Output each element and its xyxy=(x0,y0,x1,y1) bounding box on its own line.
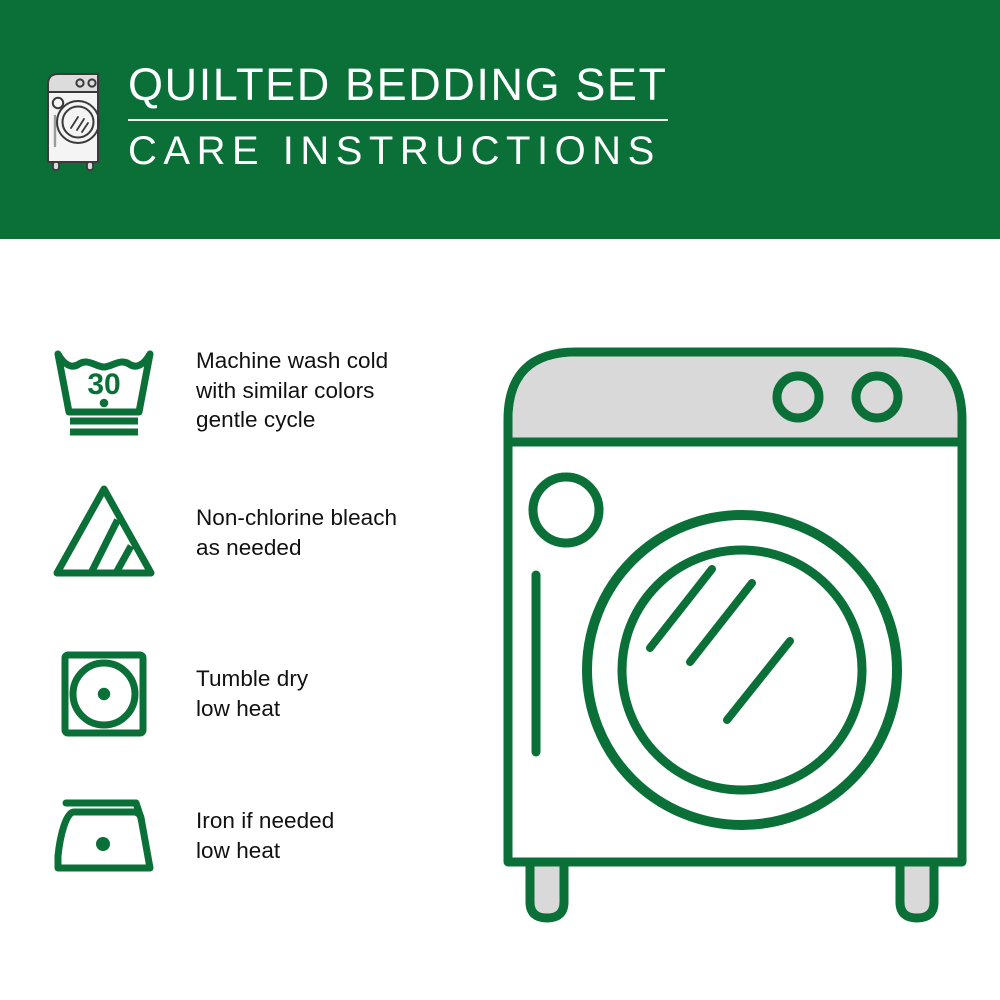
wash-temperature-label: 30 xyxy=(87,368,120,401)
header-band: QUILTED BEDDING SET CARE INSTRUCTIONS xyxy=(0,0,1000,239)
non-chlorine-bleach-triangle-icon xyxy=(44,477,164,585)
washing-machine-icon xyxy=(44,66,106,174)
control-panel xyxy=(513,357,958,443)
care-instruction-list: 30 Machine wash cold with similar colors… xyxy=(0,239,470,1000)
wash-tub-30-gentle-icon: 30 xyxy=(44,334,164,442)
care-instruction-item: Iron if needed low heat xyxy=(44,784,334,892)
leg-right xyxy=(900,862,934,918)
care-instruction-text: Non-chlorine bleach as needed xyxy=(196,477,397,562)
care-symbol-tumble-dry xyxy=(44,639,164,747)
leg-left xyxy=(530,862,564,918)
care-instruction-item: Non-chlorine bleach as needed xyxy=(44,477,397,585)
care-instruction-text: Machine wash cold with similar colors ge… xyxy=(196,334,388,435)
care-instruction-text: Tumble dry low heat xyxy=(196,639,308,723)
care-instructions-infographic: QUILTED BEDDING SET CARE INSTRUCTIONS 30 xyxy=(0,0,1000,1000)
header-divider xyxy=(128,119,668,121)
page-subtitle: CARE INSTRUCTIONS xyxy=(128,131,668,171)
care-symbol-wash: 30 xyxy=(44,334,164,442)
tumble-dry-low-heat-icon xyxy=(44,639,164,747)
page-title: QUILTED BEDDING SET xyxy=(128,62,668,111)
iron-low-heat-icon xyxy=(44,784,164,892)
header-content: QUILTED BEDDING SET CARE INSTRUCTIONS xyxy=(44,62,668,174)
header-titles: QUILTED BEDDING SET CARE INSTRUCTIONS xyxy=(128,62,668,171)
care-symbol-bleach xyxy=(44,477,164,585)
front-load-washing-machine-illustration xyxy=(490,330,980,940)
care-symbol-iron xyxy=(44,784,164,892)
care-instruction-text: Iron if needed low heat xyxy=(196,784,334,865)
care-instruction-item: Tumble dry low heat xyxy=(44,639,308,747)
care-instruction-item: 30 Machine wash cold with similar colors… xyxy=(44,334,388,442)
